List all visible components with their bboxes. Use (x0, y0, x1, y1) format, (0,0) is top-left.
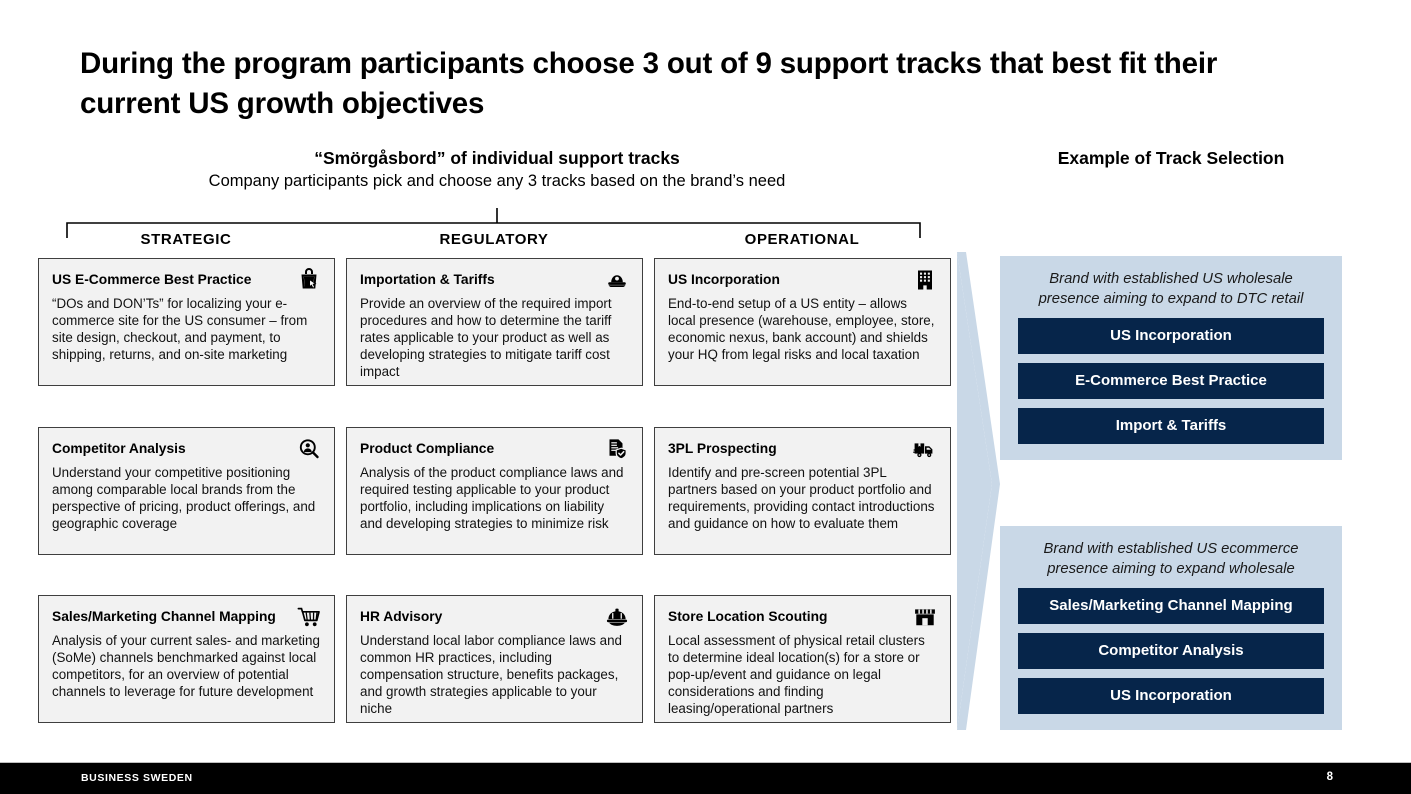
track-card-header: 3PL Prospecting (668, 440, 937, 461)
track-card-body: Analysis of the product compliance laws … (360, 464, 629, 532)
office-building-icon (913, 268, 937, 292)
track-card-body: Analysis of your current sales- and mark… (52, 632, 321, 700)
track-card-title: Product Compliance (360, 440, 599, 457)
track-card-header: US E-Commerce Best Practice (52, 271, 321, 292)
track-card[interactable]: Store Location Scouting Local assessment… (654, 595, 951, 723)
track-card-header: Sales/Marketing Channel Mapping (52, 608, 321, 629)
footer-brand: BUSINESS SWEDEN (81, 772, 193, 784)
track-card-header: Competitor Analysis (52, 440, 321, 461)
track-card[interactable]: Competitor Analysis Understand your comp… (38, 427, 335, 555)
selected-track-chip[interactable]: Competitor Analysis (1018, 633, 1324, 669)
track-card-title: US E-Commerce Best Practice (52, 271, 291, 288)
category-label-strategic: STRATEGIC (36, 231, 336, 248)
track-card-title: Store Location Scouting (668, 608, 907, 625)
smorgasbord-heading: “Smörgåsbord” of individual support trac… (66, 148, 928, 169)
example-panel: Brand with established US wholesale pres… (1000, 256, 1342, 460)
example-panel-caption: Brand with established US wholesale pres… (1018, 269, 1324, 309)
track-card[interactable]: US Incorporation End-to-end setup of a U… (654, 258, 951, 386)
track-card-header: Importation & Tariffs (360, 271, 629, 292)
track-card-body: Identify and pre-screen potential 3PL pa… (668, 464, 937, 532)
selected-track-chip[interactable]: E-Commerce Best Practice (1018, 363, 1324, 399)
slide-canvas: During the program participants choose 3… (0, 0, 1411, 794)
magnifier-person-icon (297, 437, 321, 461)
category-label-operational: OPERATIONAL (652, 231, 952, 248)
footer-bar: BUSINESS SWEDEN 8 (0, 763, 1411, 794)
hard-hat-icon (605, 605, 629, 629)
shopping-cart-icon (297, 605, 321, 629)
track-card-title: HR Advisory (360, 608, 599, 625)
category-label-regulatory: REGULATORY (344, 231, 644, 248)
delivery-truck-boxes-icon (913, 437, 937, 461)
track-card-body: “DOs and DON’Ts” for localizing your e-c… (52, 295, 321, 363)
track-card-body: Provide an overview of the required impo… (360, 295, 629, 380)
example-panel: Brand with established US ecommerce pres… (1000, 526, 1342, 730)
selected-track-chip[interactable]: US Incorporation (1018, 318, 1324, 354)
track-card-header: US Incorporation (668, 271, 937, 292)
track-card[interactable]: HR Advisory Understand local labor compl… (346, 595, 643, 723)
selected-track-chip[interactable]: Import & Tariffs (1018, 408, 1324, 444)
track-card-body: End-to-end setup of a US entity – allows… (668, 295, 937, 363)
track-card[interactable]: US E-Commerce Best Practice “DOs and DON… (38, 258, 335, 386)
track-card-header: HR Advisory (360, 608, 629, 629)
track-card-title: Sales/Marketing Channel Mapping (52, 608, 291, 625)
track-card-title: Competitor Analysis (52, 440, 291, 457)
track-card-body: Understand local labor compliance laws a… (360, 632, 629, 717)
category-label-row: STRATEGIC REGULATORY OPERATIONAL (36, 231, 956, 253)
selected-track-chip[interactable]: US Incorporation (1018, 678, 1324, 714)
track-card-title: Importation & Tariffs (360, 271, 599, 288)
track-card-body: Local assessment of physical retail clus… (668, 632, 937, 717)
track-card-title: US Incorporation (668, 271, 907, 288)
storefront-awning-icon (913, 605, 937, 629)
track-card-title: 3PL Prospecting (668, 440, 907, 457)
footer-page-number: 8 (1327, 771, 1333, 783)
smorgasbord-subheading: Company participants pick and choose any… (66, 172, 928, 191)
track-card[interactable]: Product Compliance Analysis of the produ… (346, 427, 643, 555)
document-shield-check-icon (605, 437, 629, 461)
page-title: During the program participants choose 3… (80, 44, 1280, 124)
example-selection-heading: Example of Track Selection (1000, 148, 1342, 169)
track-card[interactable]: Sales/Marketing Channel Mapping Analysis… (38, 595, 335, 723)
track-card-header: Store Location Scouting (668, 608, 937, 629)
track-card[interactable]: 3PL Prospecting Identify and pre-screen … (654, 427, 951, 555)
track-card-header: Product Compliance (360, 440, 629, 461)
example-panel-caption: Brand with established US ecommerce pres… (1018, 539, 1324, 579)
shopping-bag-cursor-icon (297, 268, 321, 292)
track-card-body: Understand your competitive positioning … (52, 464, 321, 532)
selected-track-chip[interactable]: Sales/Marketing Channel Mapping (1018, 588, 1324, 624)
customs-officer-cap-icon (605, 268, 629, 292)
track-card[interactable]: Importation & Tariffs Provide an overvie… (346, 258, 643, 386)
